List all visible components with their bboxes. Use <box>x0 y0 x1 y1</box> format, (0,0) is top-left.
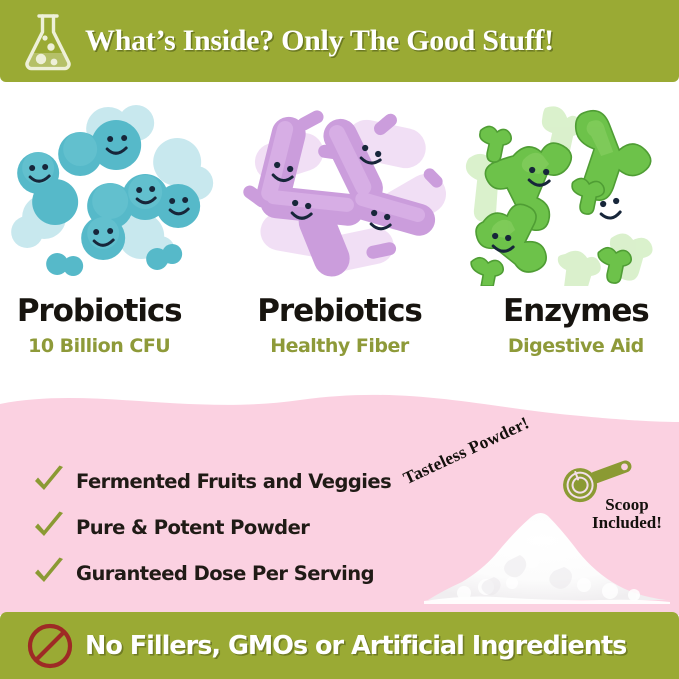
ingredient-columns: Probiotics 10 Billion CFU <box>0 82 679 382</box>
benefit-label: Fermented Fruits and Veggies <box>76 470 391 493</box>
list-item: Fermented Fruits and Veggies <box>32 458 432 504</box>
ingredient-title: Prebiotics <box>226 296 452 327</box>
ingredient-subtitle: Healthy Fiber <box>226 337 452 356</box>
ingredient-title: Enzymes <box>463 296 679 327</box>
ingredient-column-enzymes: Enzymes Digestive Aid <box>453 82 679 382</box>
infographic-page: What’s Inside? Only The Good Stuff! <box>0 0 679 679</box>
ingredient-column-prebiotics: Prebiotics Healthy Fiber <box>226 82 452 382</box>
ingredient-title: Probiotics <box>0 296 212 327</box>
prohibition-icon <box>26 622 74 670</box>
ingredient-subtitle: Digestive Aid <box>463 337 679 356</box>
scoop-line-2: Included! <box>592 514 662 532</box>
ingredient-column-probiotics: Probiotics 10 Billion CFU <box>0 82 226 382</box>
prebiotics-rod-art <box>226 86 452 286</box>
probiotics-blob-art <box>0 86 226 286</box>
ingredient-subtitle: 10 Billion CFU <box>0 337 212 356</box>
header-banner: What’s Inside? Only The Good Stuff! <box>0 0 679 82</box>
footer-banner: No Fillers, GMOs or Artificial Ingredien… <box>0 612 679 679</box>
list-item: Guranteed Dose Per Serving <box>32 550 432 596</box>
checkmark-icon <box>32 556 66 590</box>
enzymes-branch-art <box>453 86 679 286</box>
checkmark-icon <box>32 510 66 544</box>
flask-icon <box>19 12 77 72</box>
scoop-line-1: Scoop <box>592 496 662 514</box>
checkmark-icon <box>32 464 66 498</box>
ingredients-section: Probiotics 10 Billion CFU <box>0 82 679 412</box>
benefits-list: Fermented Fruits and Veggies Pure & Pote… <box>32 458 432 596</box>
scoop-included-label: Scoop Included! <box>592 496 662 533</box>
benefit-label: Pure & Potent Powder <box>76 516 309 539</box>
list-item: Pure & Potent Powder <box>32 504 432 550</box>
footer-title: No Fillers, GMOs or Artificial Ingredien… <box>85 631 626 661</box>
page-title: What’s Inside? Only The Good Stuff! <box>85 24 554 58</box>
benefit-label: Guranteed Dose Per Serving <box>76 562 374 585</box>
